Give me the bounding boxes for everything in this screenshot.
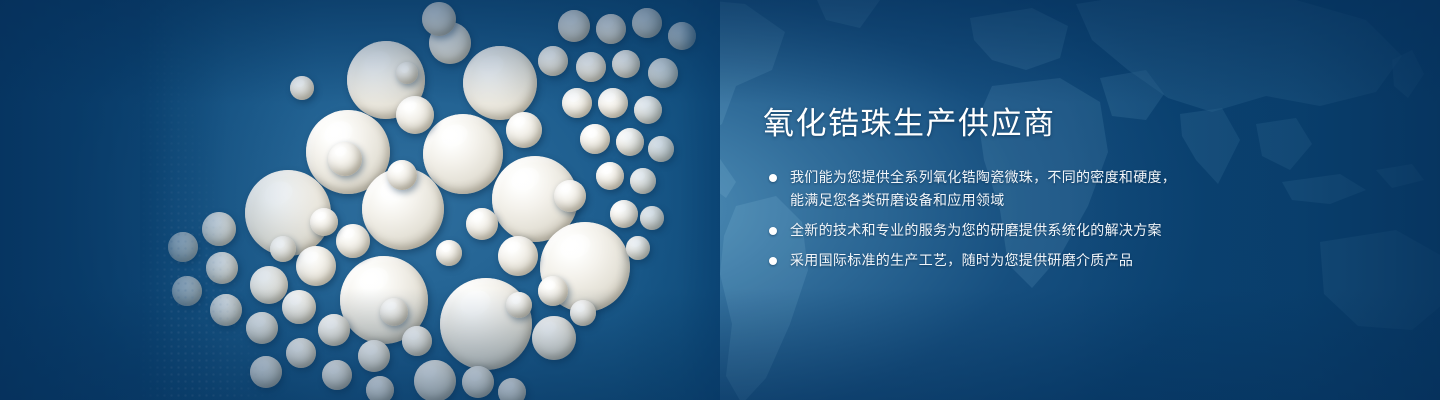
list-item: 我们能为您提供全系列氧化锆陶瓷微珠，不同的密度和硬度， 能满足您各类研磨设备和应… <box>763 166 1283 212</box>
bullet-line: 采用国际标准的生产工艺，随时为您提供研磨介质产品 <box>790 249 1283 272</box>
banner-copy: 氧化锆珠生产供应商 我们能为您提供全系列氧化锆陶瓷微珠，不同的密度和硬度， 能满… <box>763 104 1283 272</box>
bullet-line: 能满足您各类研磨设备和应用领域 <box>790 189 1283 212</box>
list-item: 采用国际标准的生产工艺，随时为您提供研磨介质产品 <box>763 249 1283 272</box>
list-item: 全新的技术和专业的服务为您的研磨提供系统化的解决方案 <box>763 219 1283 242</box>
bullet-dot-icon <box>769 257 777 265</box>
banner-headline: 氧化锆珠生产供应商 <box>763 104 1283 144</box>
hero-banner: 氧化锆珠生产供应商 我们能为您提供全系列氧化锆陶瓷微珠，不同的密度和硬度， 能满… <box>0 0 1440 400</box>
banner-bullet-list: 我们能为您提供全系列氧化锆陶瓷微珠，不同的密度和硬度， 能满足您各类研磨设备和应… <box>763 166 1283 272</box>
bullet-dot-icon <box>769 174 777 182</box>
bullet-dot-icon <box>769 227 777 235</box>
bullet-line: 我们能为您提供全系列氧化锆陶瓷微珠，不同的密度和硬度， <box>790 166 1283 189</box>
bullet-line: 全新的技术和专业的服务为您的研磨提供系统化的解决方案 <box>790 219 1283 242</box>
